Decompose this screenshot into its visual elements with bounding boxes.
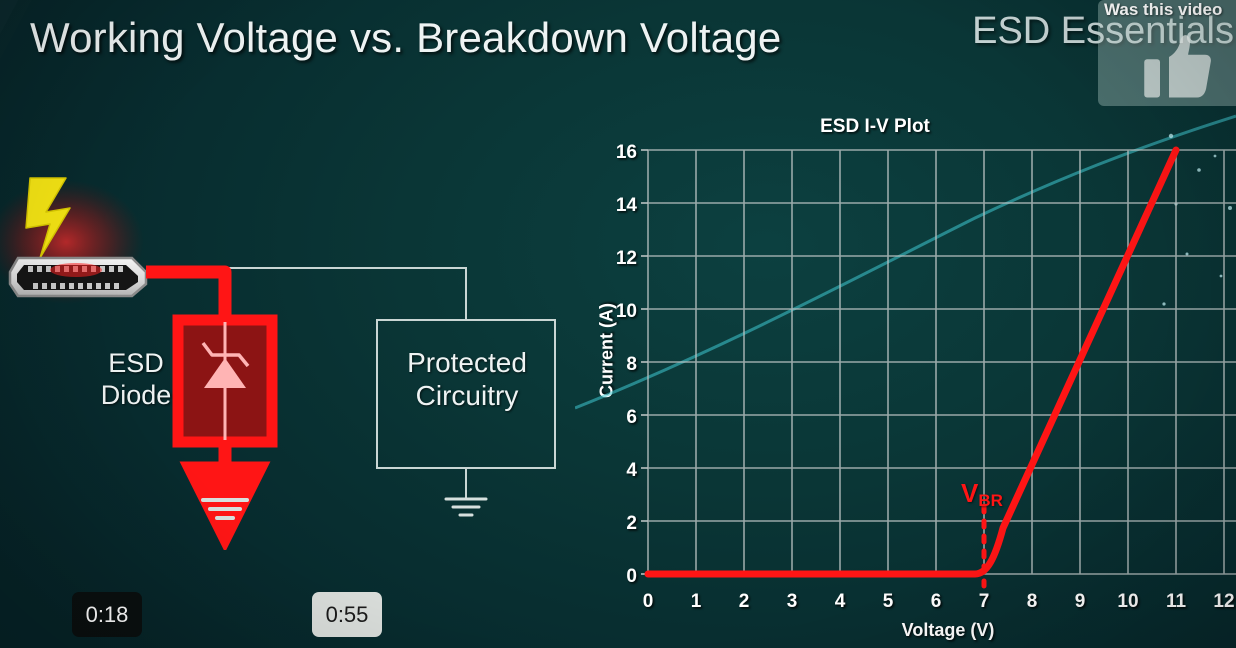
protected-circuitry-line1: Protected bbox=[381, 346, 553, 379]
esd-current-trace-top bbox=[146, 272, 225, 320]
slide-canvas: Working Voltage vs. Breakdown Voltage ES… bbox=[0, 0, 1236, 648]
vbr-annotation: VBR bbox=[961, 478, 1003, 511]
current-time-badge[interactable]: 0:18 bbox=[72, 592, 142, 637]
esd-iv-chart: ESD I-V Plot Current (A) Voltage (V) 0 2… bbox=[575, 108, 1236, 648]
esd-diode-block bbox=[178, 320, 272, 442]
thumbs-up-icon[interactable] bbox=[1142, 30, 1214, 102]
protected-circuitry-line2: Circuitry bbox=[381, 379, 553, 412]
esd-diode-label-line2: Diode bbox=[88, 380, 184, 412]
feedback-prompt-text: Was this video bbox=[1104, 0, 1236, 20]
vbr-subscript: BR bbox=[978, 491, 1003, 510]
chart-plot-area bbox=[575, 108, 1236, 608]
video-feedback-overlay[interactable]: Was this video bbox=[1098, 0, 1236, 106]
protected-circuitry-label: Protected Circuitry bbox=[381, 346, 553, 412]
chart-tick-marks bbox=[641, 150, 648, 574]
vbr-label: V bbox=[961, 478, 978, 508]
hdmi-connector-icon bbox=[10, 258, 146, 296]
chart-x-axis-label: Voltage (V) bbox=[648, 620, 1236, 641]
esd-diode-label: ESD Diode bbox=[88, 348, 184, 412]
page-title: Working Voltage vs. Breakdown Voltage bbox=[30, 14, 781, 62]
ground-symbol-icon bbox=[203, 500, 247, 518]
ground-symbol-icon-2 bbox=[446, 499, 486, 515]
circuit-diagram: ESD Diode Protected Circuitry bbox=[0, 150, 590, 550]
total-time-badge[interactable]: 0:55 bbox=[312, 592, 382, 637]
esd-diode-label-line1: ESD bbox=[88, 348, 184, 380]
decorative-background-curve bbox=[575, 116, 1236, 408]
